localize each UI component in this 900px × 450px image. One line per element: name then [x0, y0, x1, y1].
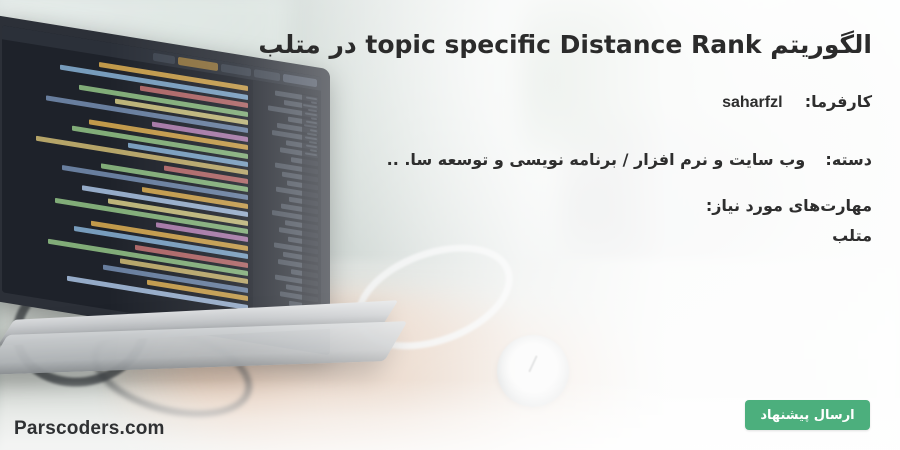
employer-row: کارفرما: saharfzl — [722, 92, 872, 112]
page-title: الگوریتم topic specific Distance Rank در… — [180, 28, 872, 62]
site-brand: Parscoders.com — [14, 418, 165, 440]
employer-value[interactable]: saharfzl — [722, 94, 782, 111]
skills-value[interactable]: متلب — [832, 226, 872, 245]
content-layer: الگوریتم topic specific Distance Rank در… — [0, 0, 900, 450]
skills-row: مهارت‌های مورد نیاز: — [706, 196, 872, 215]
job-listing-banner: الگوریتم topic specific Distance Rank در… — [0, 0, 900, 450]
category-label: دسته: — [825, 150, 872, 169]
submit-proposal-button[interactable]: ارسال پیشنهاد — [745, 400, 870, 430]
skills-label: مهارت‌های مورد نیاز: — [706, 196, 872, 215]
employer-label: کارفرما: — [805, 92, 872, 111]
category-value[interactable]: وب سایت و نرم افزار / برنامه نویسی و توس… — [387, 150, 806, 169]
category-row: دسته: وب سایت و نرم افزار / برنامه نویسی… — [387, 150, 872, 169]
